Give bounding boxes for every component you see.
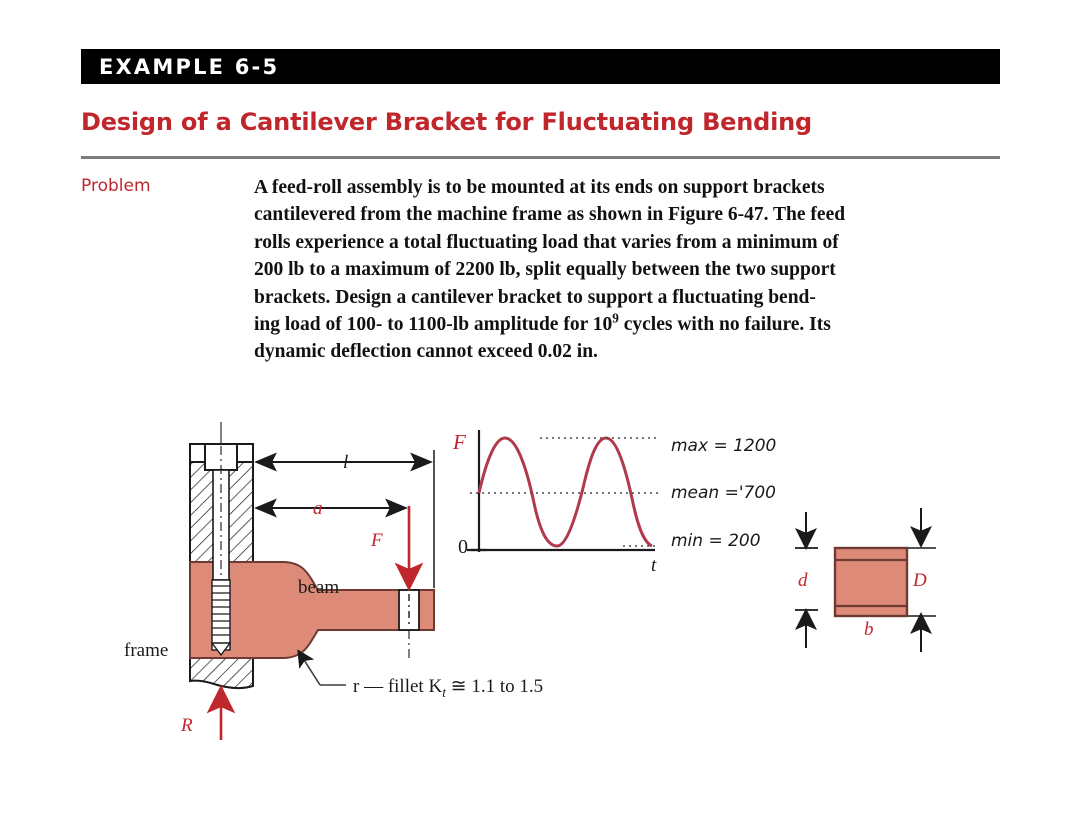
fillet-radius-label: r <box>353 676 359 697</box>
example-number-label: EXAMPLE 6-5 <box>99 55 279 79</box>
plot-min-annotation: min = 200 <box>671 531 761 551</box>
section-dimension-b-label: b <box>864 619 874 641</box>
reaction-label-r: R <box>181 715 193 737</box>
figure-6-47: l a F beam frame R r — fillet Kt ≅ 1.1 t… <box>0 400 1080 770</box>
dimension-label-a: a <box>313 498 323 520</box>
problem-cycles-exponent: 9 <box>612 311 619 326</box>
section-dimension-d-small-label: d <box>798 570 808 592</box>
bolt-threads <box>212 580 230 655</box>
problem-line-5: brackets. Design a cantilever bracket to… <box>254 287 816 308</box>
plot-origin-label: 0 <box>458 536 468 559</box>
dimension-label-l: l <box>343 452 348 474</box>
problem-line-6b: cycles with no failure. Its <box>619 314 831 335</box>
problem-line-3: rolls experience a total fluctuating loa… <box>254 232 839 253</box>
fillet-kt-label: K <box>428 676 442 697</box>
problem-line-1: A feed-roll assembly is to be mounted at… <box>254 177 825 198</box>
document-page: EXAMPLE 6-5 Design of a Cantilever Brack… <box>0 0 1080 818</box>
fillet-dash: — <box>364 676 383 697</box>
plot-mean-annotation: mean ='700 <box>671 483 776 503</box>
plot-x-axis-label: t <box>651 555 656 577</box>
problem-line-4: 200 lb to a maximum of 2200 lb, split eq… <box>254 259 836 280</box>
plot-load-curve <box>479 438 652 546</box>
example-header-bar: EXAMPLE 6-5 <box>81 49 1000 84</box>
page-title: Design of a Cantilever Bracket for Fluct… <box>81 108 812 136</box>
plot-y-axis-label: F <box>453 430 466 455</box>
force-label-f: F <box>371 530 383 552</box>
problem-statement: A feed-roll assembly is to be mounted at… <box>254 174 994 366</box>
frame-label: frame <box>124 640 168 662</box>
problem-line-6a: ing load of 100- to 1100-lb amplitude fo… <box>254 314 612 335</box>
fillet-text-b: ≅ 1.1 to 1.5 <box>446 676 543 697</box>
problem-line-2: cantilevered from the machine frame as s… <box>254 204 845 225</box>
fillet-leader <box>299 652 346 685</box>
fillet-callout: r — fillet Kt ≅ 1.1 to 1.5 <box>353 675 543 701</box>
load-time-plot <box>467 430 658 552</box>
fillet-text-a: fillet <box>388 676 429 697</box>
beam-end-section-marker <box>399 590 419 630</box>
problem-line-7: dynamic deflection cannot exceed 0.02 in… <box>254 341 598 362</box>
beam-label: beam <box>298 577 339 599</box>
plot-max-annotation: max = 1200 <box>671 436 776 456</box>
header-divider <box>81 156 1000 159</box>
problem-label: Problem <box>81 176 151 196</box>
section-dimension-d-large-label: D <box>913 570 927 592</box>
